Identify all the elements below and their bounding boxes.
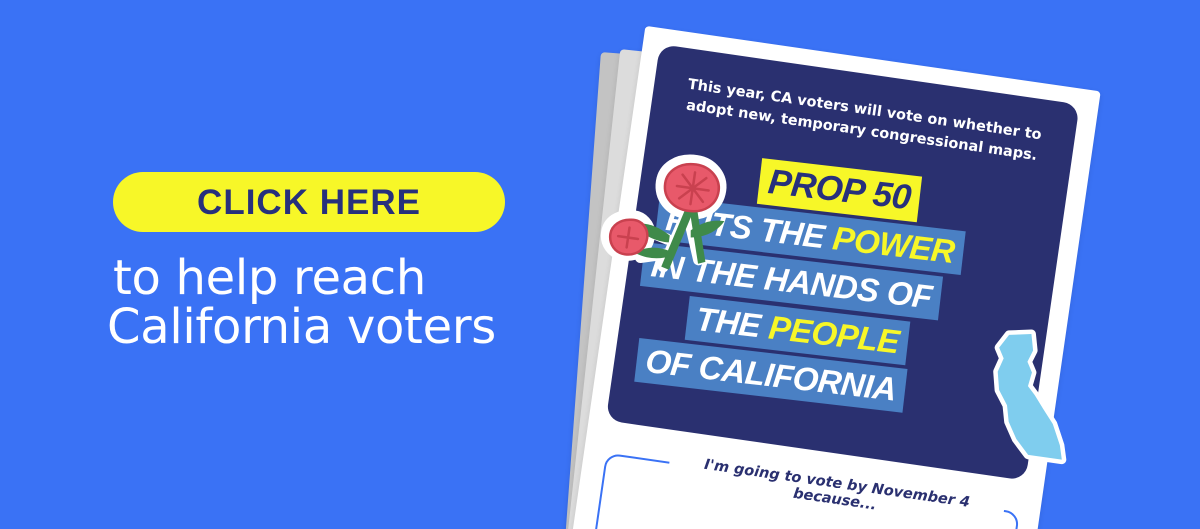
cta-subtitle-line-2: California voters [107,303,583,352]
call-to-action: CLICK HERE to help reach California vote… [113,172,583,352]
headline-line-4-text: THE [694,300,771,345]
promo-banner: CLICK HERE to help reach California vote… [0,0,1200,529]
california-poppy-icon [591,126,741,293]
cta-subtitle-line-1: to help reach [113,254,583,303]
cta-subtitle: to help reach California voters [113,254,583,352]
click-here-button[interactable]: CLICK HERE [113,172,505,232]
poster-sheet-front[interactable]: This year, CA voters will vote on whethe… [571,26,1100,529]
california-state-icon [974,322,1088,466]
poster-stack[interactable]: This year, CA voters will vote on whethe… [560,30,1200,529]
click-here-button-label: CLICK HERE [197,185,421,220]
